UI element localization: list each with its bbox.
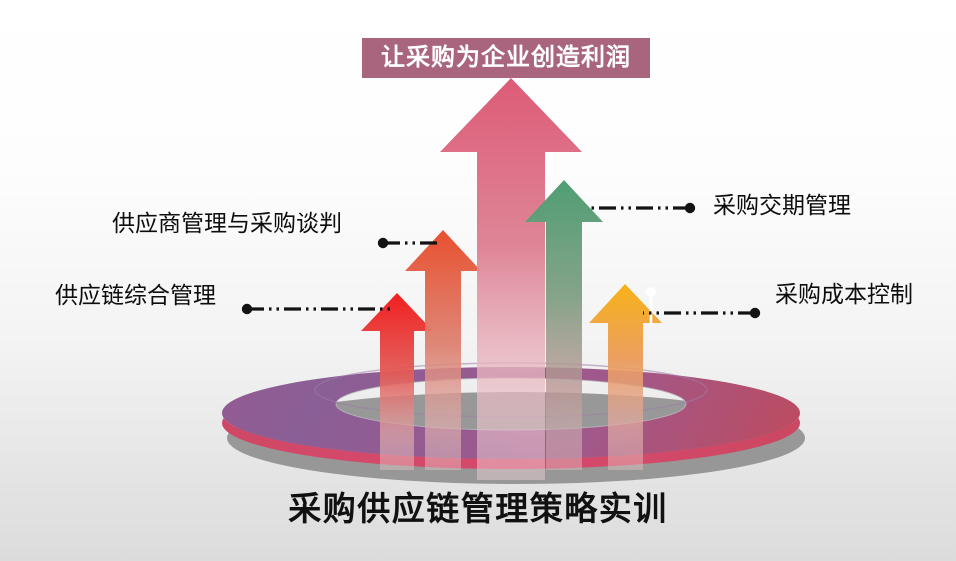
callout-label-cost-control: 采购成本控制 (775, 283, 913, 306)
footer-title: 采购供应链管理策略实训 (0, 492, 956, 525)
callout-label-supplychain-mgmt: 供应链综合管理 (55, 284, 216, 307)
connector-dot-cost-control (750, 308, 760, 318)
headline-banner-text: 让采购为企业创造利润 (381, 46, 631, 70)
slide-canvas: 让采购为企业创造利润 供应商管理与采购谈判 供应链综合管理 采购交期管理 采购成… (0, 0, 956, 561)
connector-dot-delivery-mgmt (685, 203, 695, 213)
headline-banner: 让采购为企业创造利润 (362, 38, 650, 78)
callout-label-delivery-mgmt: 采购交期管理 (713, 194, 851, 217)
callout-label-supplier-negotiation: 供应商管理与采购谈判 (112, 212, 342, 235)
connector-dot-supplier-negotiation (378, 238, 388, 248)
connector-dot-supplychain-mgmt (242, 304, 252, 314)
